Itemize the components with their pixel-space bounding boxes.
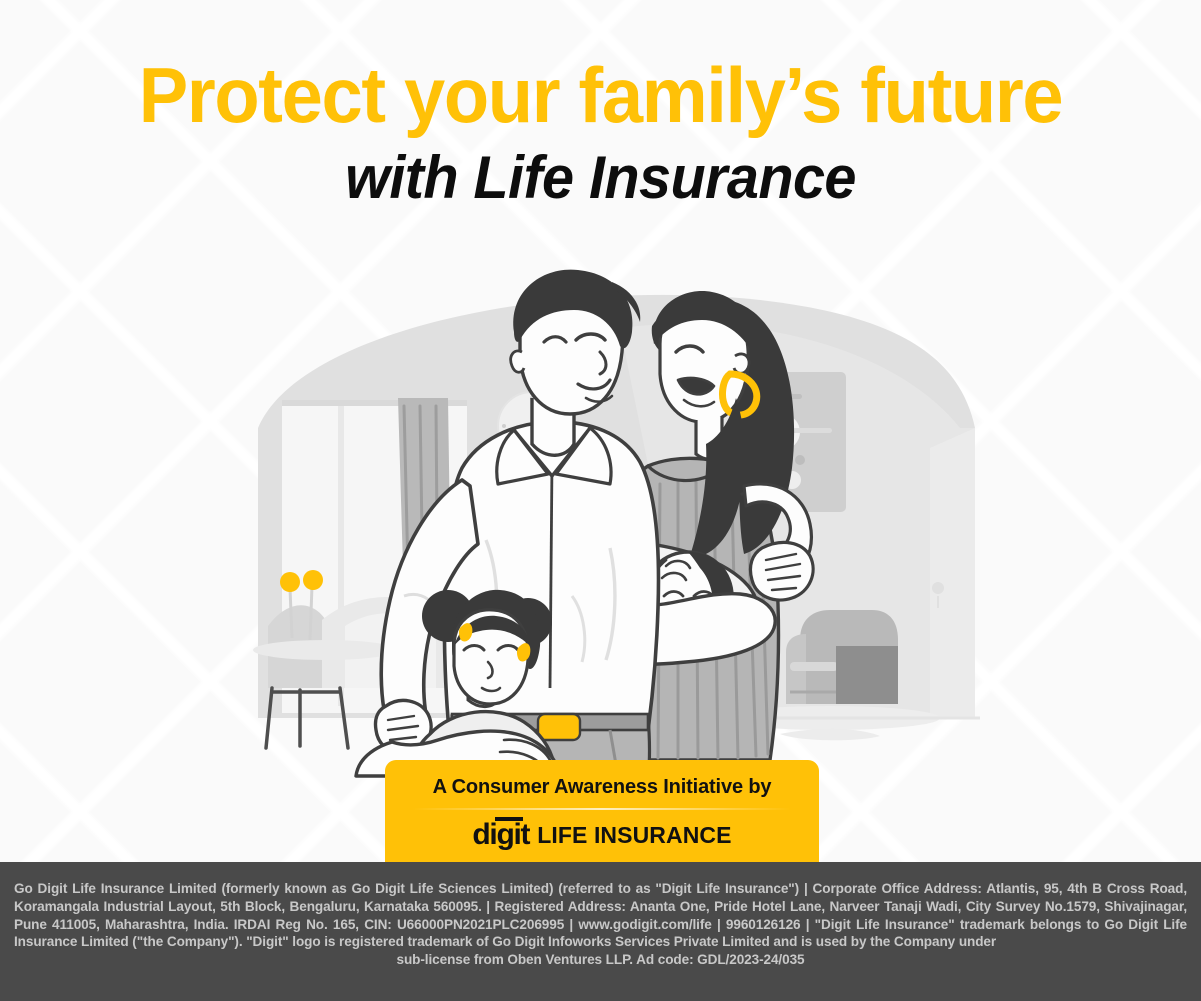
door bbox=[930, 428, 975, 718]
consumer-awareness-badge: A Consumer Awareness Initiative by digit… bbox=[385, 760, 819, 862]
headline-line-1: Protect your family’s future bbox=[30, 56, 1171, 136]
footer-disclaimer-text: Go Digit Life Insurance Limited (formerl… bbox=[14, 880, 1187, 969]
footer-disclaimer-bar: Go Digit Life Insurance Limited (formerl… bbox=[0, 862, 1201, 1001]
footer-last-line: sub-license from Oben Ventures LLP. Ad c… bbox=[14, 951, 1187, 969]
flower-icon bbox=[280, 572, 300, 592]
badge-divider bbox=[413, 808, 791, 810]
digit-life-insurance-logo: digit LIFE INSURANCE bbox=[385, 820, 819, 850]
mother-hand bbox=[750, 542, 813, 600]
footer-body: Go Digit Life Insurance Limited (formerl… bbox=[14, 881, 1187, 949]
headline-block: Protect your family’s future with Life I… bbox=[0, 56, 1201, 209]
logo-suffix-text: LIFE INSURANCE bbox=[537, 824, 731, 847]
digit-wordmark: digit bbox=[472, 820, 529, 850]
digit-overbar-icon bbox=[495, 817, 523, 821]
badge-tagline: A Consumer Awareness Initiative by bbox=[385, 776, 819, 799]
advertisement-poster: Protect your family’s future with Life I… bbox=[0, 0, 1201, 1001]
headline-line-2: with Life Insurance bbox=[24, 146, 1177, 209]
belt-buckle bbox=[538, 714, 580, 740]
digit-wordmark-text: digit bbox=[472, 818, 529, 851]
flower-icon bbox=[303, 570, 323, 590]
side-table bbox=[836, 646, 898, 704]
